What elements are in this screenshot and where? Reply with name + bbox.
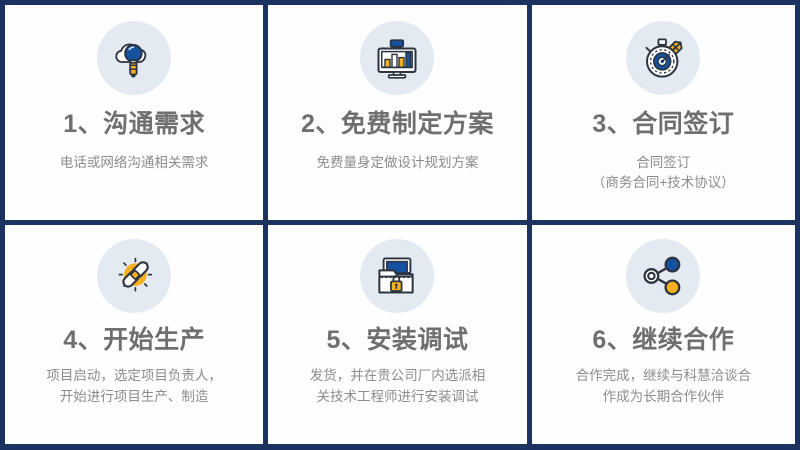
step-title: 5、安装调试	[327, 327, 469, 355]
step-title: 2、免费制定方案	[301, 111, 494, 139]
process-step-card-6[interactable]: 6、继续合作 合作完成，继续与科慧洽谈合 作成为长期合作伙伴	[532, 225, 795, 445]
share-nodes-icon	[626, 239, 700, 313]
process-step-card-4[interactable]: 4、开始生产 项目启动，选定项目负责人， 开始进行项目生产、制造	[5, 225, 268, 445]
step-description: 免费量身定做设计规划方案	[316, 153, 478, 174]
step-title: 6、继续合作	[592, 327, 734, 355]
step-description: 电话或网络沟通相关需求	[60, 153, 209, 174]
step-description-line: 发货，并在贵公司厂内选派相	[310, 366, 486, 387]
step-description-line: 免费量身定做设计规划方案	[316, 153, 478, 174]
step-description-line: 开始进行项目生产、制造	[46, 387, 222, 408]
process-step-card-5[interactable]: 5、安装调试 发货，并在贵公司厂内选派相 关技术工程师进行安装调试	[268, 225, 531, 445]
process-steps-grid: 1、沟通需求 电话或网络沟通相关需求 2、免费制定方案 免费量身定做设计	[0, 0, 800, 450]
step-description-line: （商务合同+技术协议）	[592, 173, 735, 194]
step-description-line: 作成为长期合作伙伴	[576, 387, 752, 408]
target-arrow-icon	[626, 21, 700, 95]
process-step-card-1[interactable]: 1、沟通需求 电话或网络沟通相关需求	[5, 5, 268, 225]
step-description: 合同签订 （商务合同+技术协议）	[592, 153, 735, 195]
folder-lock-icon	[360, 239, 434, 313]
step-description-line: 电话或网络沟通相关需求	[60, 153, 209, 174]
step-title: 3、合同签订	[592, 111, 734, 139]
step-description-line: 合同签订	[592, 153, 735, 174]
step-description-line: 关技术工程师进行安装调试	[310, 387, 486, 408]
step-description: 发货，并在贵公司厂内选派相 关技术工程师进行安装调试	[310, 366, 486, 408]
cloud-search-icon	[97, 21, 171, 95]
process-step-card-2[interactable]: 2、免费制定方案 免费量身定做设计规划方案	[268, 5, 531, 225]
chain-link-icon	[97, 239, 171, 313]
process-step-card-3[interactable]: 3、合同签订 合同签订 （商务合同+技术协议）	[532, 5, 795, 225]
step-description: 合作完成，继续与科慧洽谈合 作成为长期合作伙伴	[576, 366, 752, 408]
step-description-line: 项目启动，选定项目负责人，	[46, 366, 222, 387]
step-title: 4、开始生产	[63, 327, 205, 355]
step-title: 1、沟通需求	[63, 111, 205, 139]
monitor-bar-chart-icon	[360, 21, 434, 95]
step-description-line: 合作完成，继续与科慧洽谈合	[576, 366, 752, 387]
step-description: 项目启动，选定项目负责人， 开始进行项目生产、制造	[46, 366, 222, 408]
